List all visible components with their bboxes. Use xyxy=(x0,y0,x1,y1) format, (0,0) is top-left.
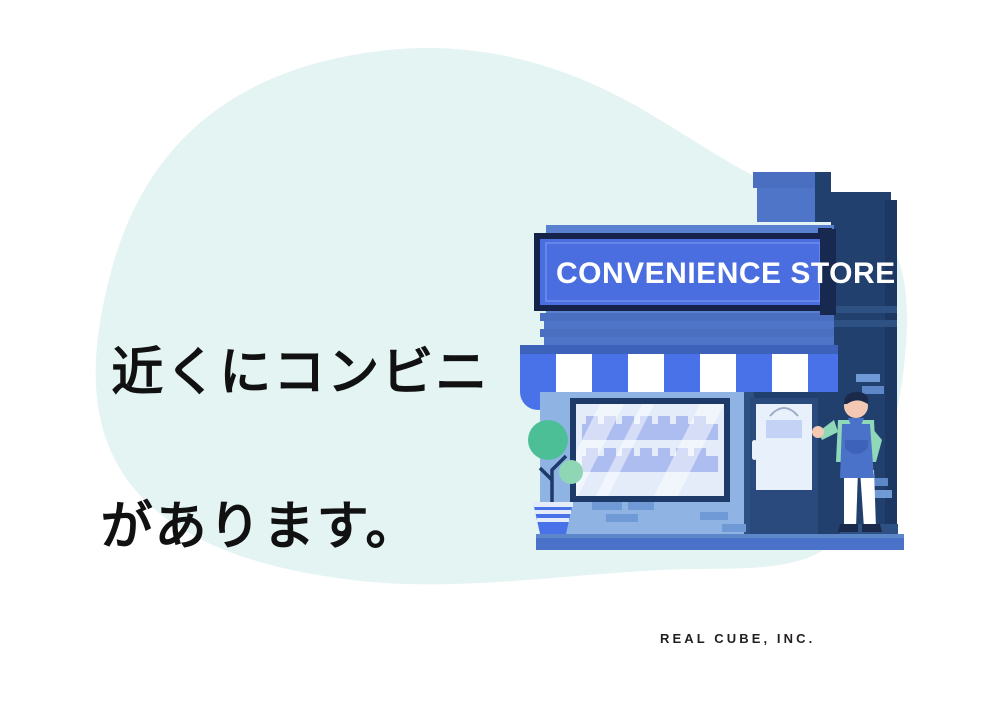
shop-window xyxy=(554,398,730,502)
headline-line-1: 近くにコンビニ xyxy=(111,343,489,403)
entrance-door xyxy=(750,398,818,540)
store-base xyxy=(536,534,904,550)
page-headline: 近くにコンビニ があります。 xyxy=(0,258,520,714)
footer-brand: REAL CUBE, INC. xyxy=(660,631,815,646)
poster-canvas: CONVENIENCE STORE xyxy=(0,0,1000,714)
rooftop-unit xyxy=(753,172,831,222)
headline-line-2: があります。 xyxy=(0,489,520,566)
store-sign-text: CONVENIENCE STORE xyxy=(556,257,896,290)
